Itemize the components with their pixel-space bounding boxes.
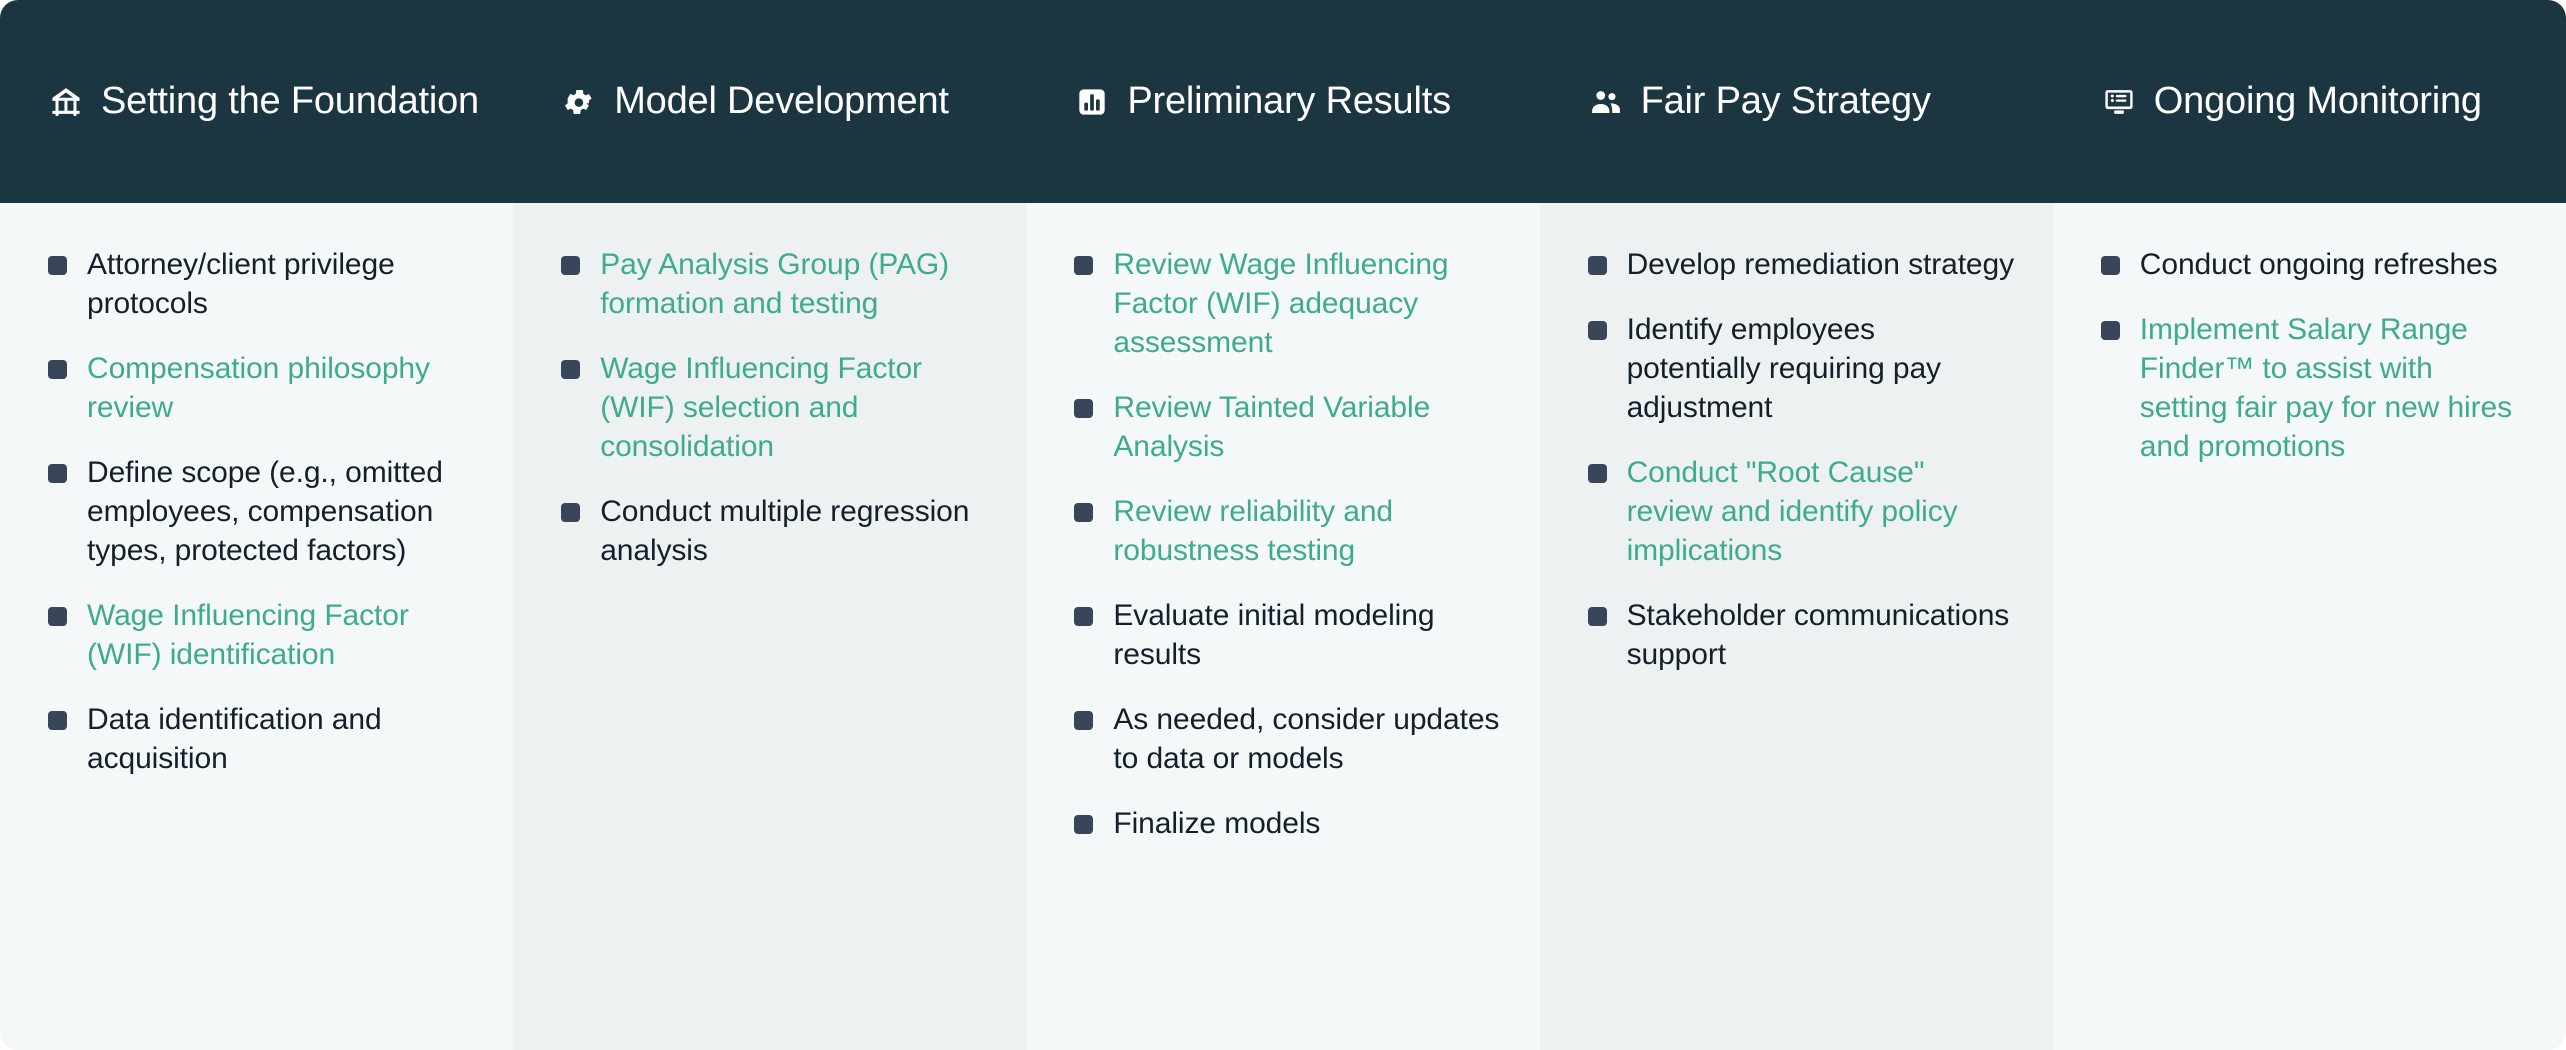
square-bullet-icon [1074,399,1093,418]
pay-equity-process-board: Setting the FoundationModel DevelopmentP… [0,0,2566,1050]
list-item-label: Identify employees potentially requiring… [1627,310,2015,427]
gear-icon [561,84,597,120]
square-bullet-icon [48,256,67,275]
list-item[interactable]: Pay Analysis Group (PAG) formation and t… [561,245,988,323]
list-item-label: Pay Analysis Group (PAG) formation and t… [600,245,988,323]
square-bullet-icon [1588,256,1607,275]
list-item-label: Conduct ongoing refreshes [2140,245,2498,284]
phase-column-ongoing-monitoring: Conduct ongoing refreshesImplement Salar… [2053,203,2566,1050]
list-item[interactable]: Review Wage Influencing Factor (WIF) ade… [1074,245,1501,362]
list-item[interactable]: Data identification and acquisition [48,700,475,778]
square-bullet-icon [561,256,580,275]
phase-header-fair-pay-strategy[interactable]: Fair Pay Strategy [1540,0,2053,203]
list-item-label: Conduct multiple regression analysis [600,492,988,570]
list-item[interactable]: Wage Influencing Factor (WIF) selection … [561,349,988,466]
list-item-label: Define scope (e.g., omitted employees, c… [87,453,475,570]
square-bullet-icon [1074,815,1093,834]
phase-columns: Attorney/client privilege protocolsCompe… [0,203,2566,1050]
list-item[interactable]: Identify employees potentially requiring… [1588,310,2015,427]
list-item-label: As needed, consider updates to data or m… [1113,700,1501,778]
list-item[interactable]: Develop remediation strategy [1588,245,2015,284]
list-item-label: Wage Influencing Factor (WIF) identifica… [87,596,475,674]
list-item-label: Attorney/client privilege protocols [87,245,475,323]
phase-column-fair-pay-strategy: Develop remediation strategyIdentify emp… [1540,203,2053,1050]
phase-header-model-development[interactable]: Model Development [513,0,1026,203]
list-item[interactable]: Attorney/client privilege protocols [48,245,475,323]
list-item[interactable]: Conduct multiple regression analysis [561,492,988,570]
square-bullet-icon [48,711,67,730]
phase-title: Preliminary Results [1127,81,1451,123]
square-bullet-icon [561,360,580,379]
square-bullet-icon [2101,256,2120,275]
list-item[interactable]: Implement Salary Range Finder™ to assist… [2101,310,2528,466]
list-item[interactable]: Compensation philosophy review [48,349,475,427]
square-bullet-icon [1074,711,1093,730]
monitor-list-icon [2101,84,2137,120]
square-bullet-icon [48,464,67,483]
list-item-label: Finalize models [1113,804,1320,843]
list-item-label: Implement Salary Range Finder™ to assist… [2140,310,2528,466]
list-item-label: Review reliability and robustness testin… [1113,492,1501,570]
list-item-label: Review Wage Influencing Factor (WIF) ade… [1113,245,1501,362]
phase-column-model-development: Pay Analysis Group (PAG) formation and t… [513,203,1026,1050]
phase-column-setting-the-foundation: Attorney/client privilege protocolsCompe… [0,203,513,1050]
bar-chart-icon [1074,84,1110,120]
list-item[interactable]: Wage Influencing Factor (WIF) identifica… [48,596,475,674]
square-bullet-icon [1588,464,1607,483]
list-item[interactable]: Define scope (e.g., omitted employees, c… [48,453,475,570]
square-bullet-icon [48,360,67,379]
square-bullet-icon [1074,503,1093,522]
list-item-label: Compensation philosophy review [87,349,475,427]
phase-header-preliminary-results[interactable]: Preliminary Results [1026,0,1539,203]
list-item-label: Data identification and acquisition [87,700,475,778]
square-bullet-icon [1588,321,1607,340]
square-bullet-icon [2101,321,2120,340]
list-item-label: Review Tainted Variable Analysis [1113,388,1501,466]
list-item[interactable]: Evaluate initial modeling results [1074,596,1501,674]
phase-header-bar: Setting the FoundationModel DevelopmentP… [0,0,2566,203]
list-item[interactable]: Review Tainted Variable Analysis [1074,388,1501,466]
list-item-label: Conduct "Root Cause" review and identify… [1627,453,2015,570]
list-item[interactable]: Review reliability and robustness testin… [1074,492,1501,570]
square-bullet-icon [1074,256,1093,275]
list-item-label: Wage Influencing Factor (WIF) selection … [600,349,988,466]
list-item-label: Evaluate initial modeling results [1113,596,1501,674]
list-item-label: Stakeholder communications support [1627,596,2015,674]
phase-column-preliminary-results: Review Wage Influencing Factor (WIF) ade… [1026,203,1539,1050]
list-item-label: Develop remediation strategy [1627,245,2014,284]
list-item[interactable]: Conduct ongoing refreshes [2101,245,2528,284]
square-bullet-icon [561,503,580,522]
phase-title: Ongoing Monitoring [2154,81,2482,123]
list-item[interactable]: Stakeholder communications support [1588,596,2015,674]
phase-header-setting-the-foundation[interactable]: Setting the Foundation [0,0,513,203]
phase-title: Setting the Foundation [101,81,479,123]
phase-title: Model Development [614,81,949,123]
list-item[interactable]: Finalize models [1074,804,1501,843]
people-group-icon [1588,84,1624,120]
square-bullet-icon [1588,607,1607,626]
foundation-structure-icon [48,84,84,120]
square-bullet-icon [1074,607,1093,626]
square-bullet-icon [48,607,67,626]
phase-header-ongoing-monitoring[interactable]: Ongoing Monitoring [2053,0,2566,203]
list-item[interactable]: As needed, consider updates to data or m… [1074,700,1501,778]
list-item[interactable]: Conduct "Root Cause" review and identify… [1588,453,2015,570]
phase-title: Fair Pay Strategy [1641,81,1931,123]
